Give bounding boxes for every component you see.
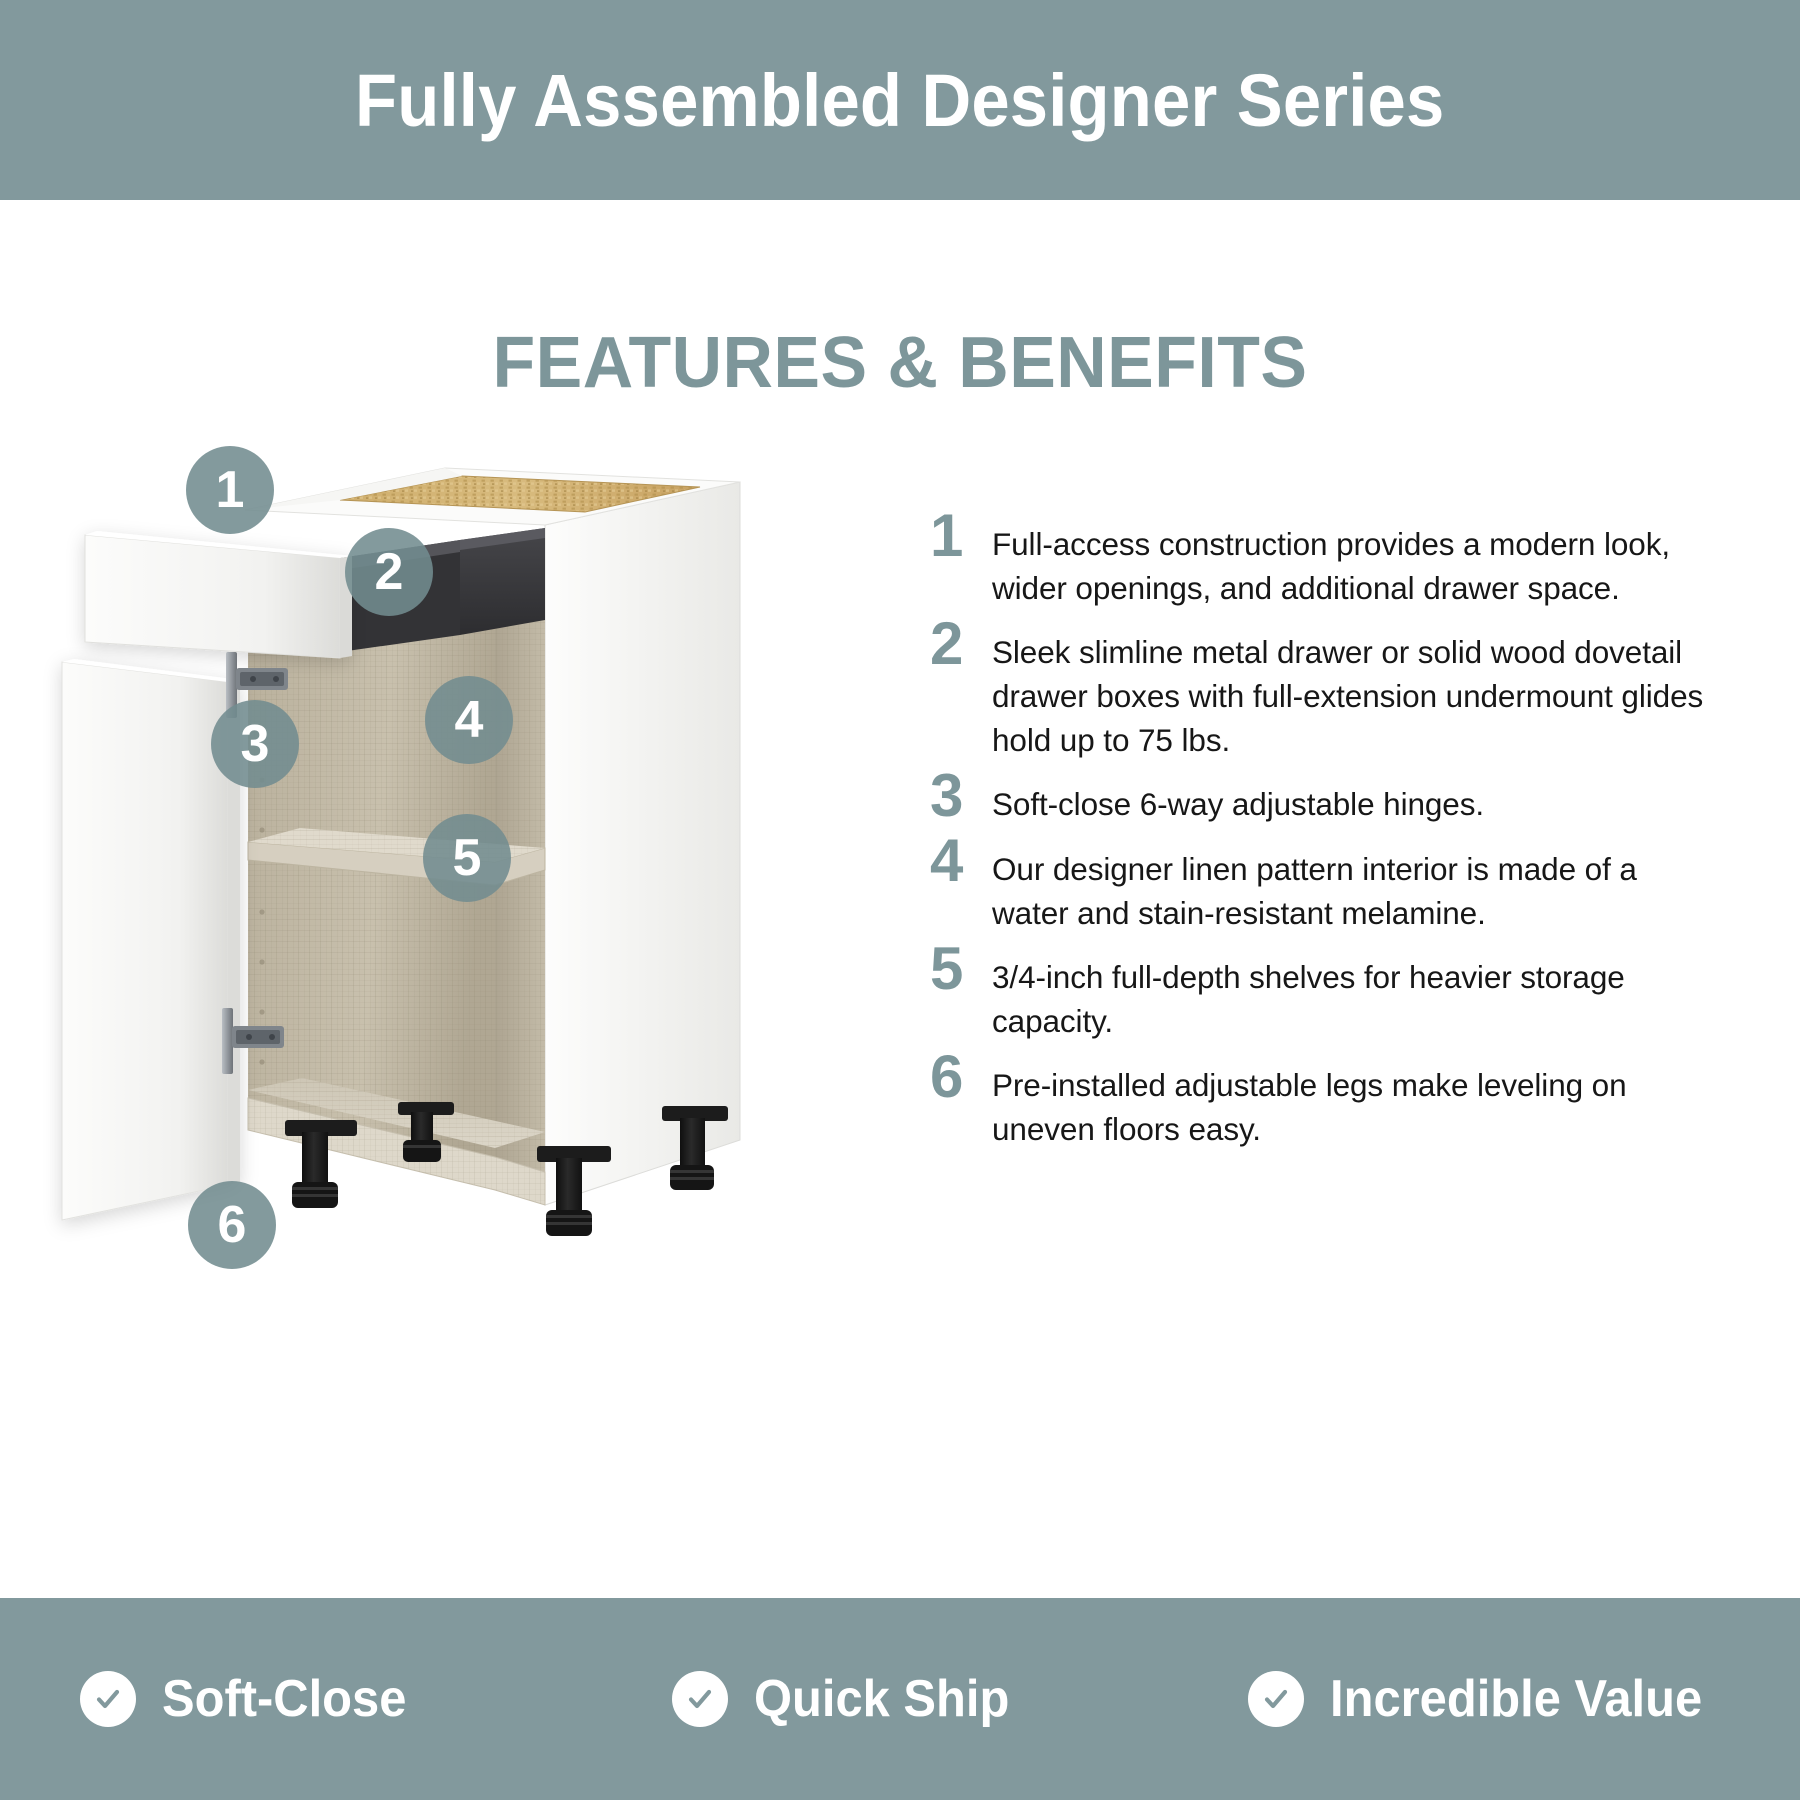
feature-item-6: 6 Pre-installed adjustable legs make lev… bbox=[930, 1063, 1720, 1151]
infographic-page: Fully Assembled Designer Series FEATURES… bbox=[0, 0, 1800, 1800]
footer-bar: Soft-Close Quick Ship Incredible Value bbox=[0, 1598, 1800, 1800]
page-title: Fully Assembled Designer Series bbox=[355, 58, 1444, 143]
feature-text-5: 3/4-inch full-depth shelves for heavier … bbox=[992, 955, 1720, 1043]
check-circle-icon bbox=[1248, 1671, 1304, 1727]
feature-number-3: 3 bbox=[930, 770, 992, 821]
feature-number-4: 4 bbox=[930, 835, 992, 886]
feature-text-4: Our designer linen pattern interior is m… bbox=[992, 847, 1720, 935]
features-list: 1 Full-access construction provides a mo… bbox=[930, 522, 1720, 1171]
callout-1[interactable]: 1 bbox=[186, 446, 274, 534]
feature-number-1: 1 bbox=[930, 510, 992, 561]
check-circle-icon bbox=[80, 1671, 136, 1727]
callout-4[interactable]: 4 bbox=[425, 676, 513, 764]
feature-item-4: 4 Our designer linen pattern interior is… bbox=[930, 847, 1720, 935]
header-bar: Fully Assembled Designer Series bbox=[0, 0, 1800, 200]
feature-item-1: 1 Full-access construction provides a mo… bbox=[930, 522, 1720, 610]
footer-label-incredible-value: Incredible Value bbox=[1330, 1669, 1702, 1729]
drawer-front bbox=[85, 531, 352, 658]
feature-text-6: Pre-installed adjustable legs make level… bbox=[992, 1063, 1720, 1151]
footer-label-quick-ship: Quick Ship bbox=[754, 1669, 1009, 1729]
check-circle-icon bbox=[672, 1671, 728, 1727]
section-heading: FEATURES & BENEFITS bbox=[27, 322, 1773, 404]
feature-item-5: 5 3/4-inch full-depth shelves for heavie… bbox=[930, 955, 1720, 1043]
footer-label-soft-close: Soft-Close bbox=[162, 1669, 406, 1729]
feature-number-5: 5 bbox=[930, 943, 992, 994]
feature-text-1: Full-access construction provides a mode… bbox=[992, 522, 1720, 610]
feature-text-3: Soft-close 6-way adjustable hinges. bbox=[992, 782, 1720, 826]
footer-badge-quick-ship: Quick Ship bbox=[672, 1669, 1026, 1729]
callout-3[interactable]: 3 bbox=[211, 700, 299, 788]
feature-item-2: 2 Sleek slimline metal drawer or solid w… bbox=[930, 630, 1720, 762]
footer-badge-incredible-value: Incredible Value bbox=[1248, 1669, 1726, 1729]
callout-5[interactable]: 5 bbox=[423, 814, 511, 902]
leg-front-left bbox=[285, 1120, 357, 1208]
footer-badge-soft-close: Soft-Close bbox=[80, 1669, 422, 1729]
callout-2[interactable]: 2 bbox=[345, 528, 433, 616]
feature-number-6: 6 bbox=[930, 1051, 992, 1102]
feature-text-2: Sleek slimline metal drawer or solid woo… bbox=[992, 630, 1720, 762]
feature-number-2: 2 bbox=[930, 618, 992, 669]
feature-item-3: 3 Soft-close 6-way adjustable hinges. bbox=[930, 782, 1720, 826]
callout-6[interactable]: 6 bbox=[188, 1181, 276, 1269]
